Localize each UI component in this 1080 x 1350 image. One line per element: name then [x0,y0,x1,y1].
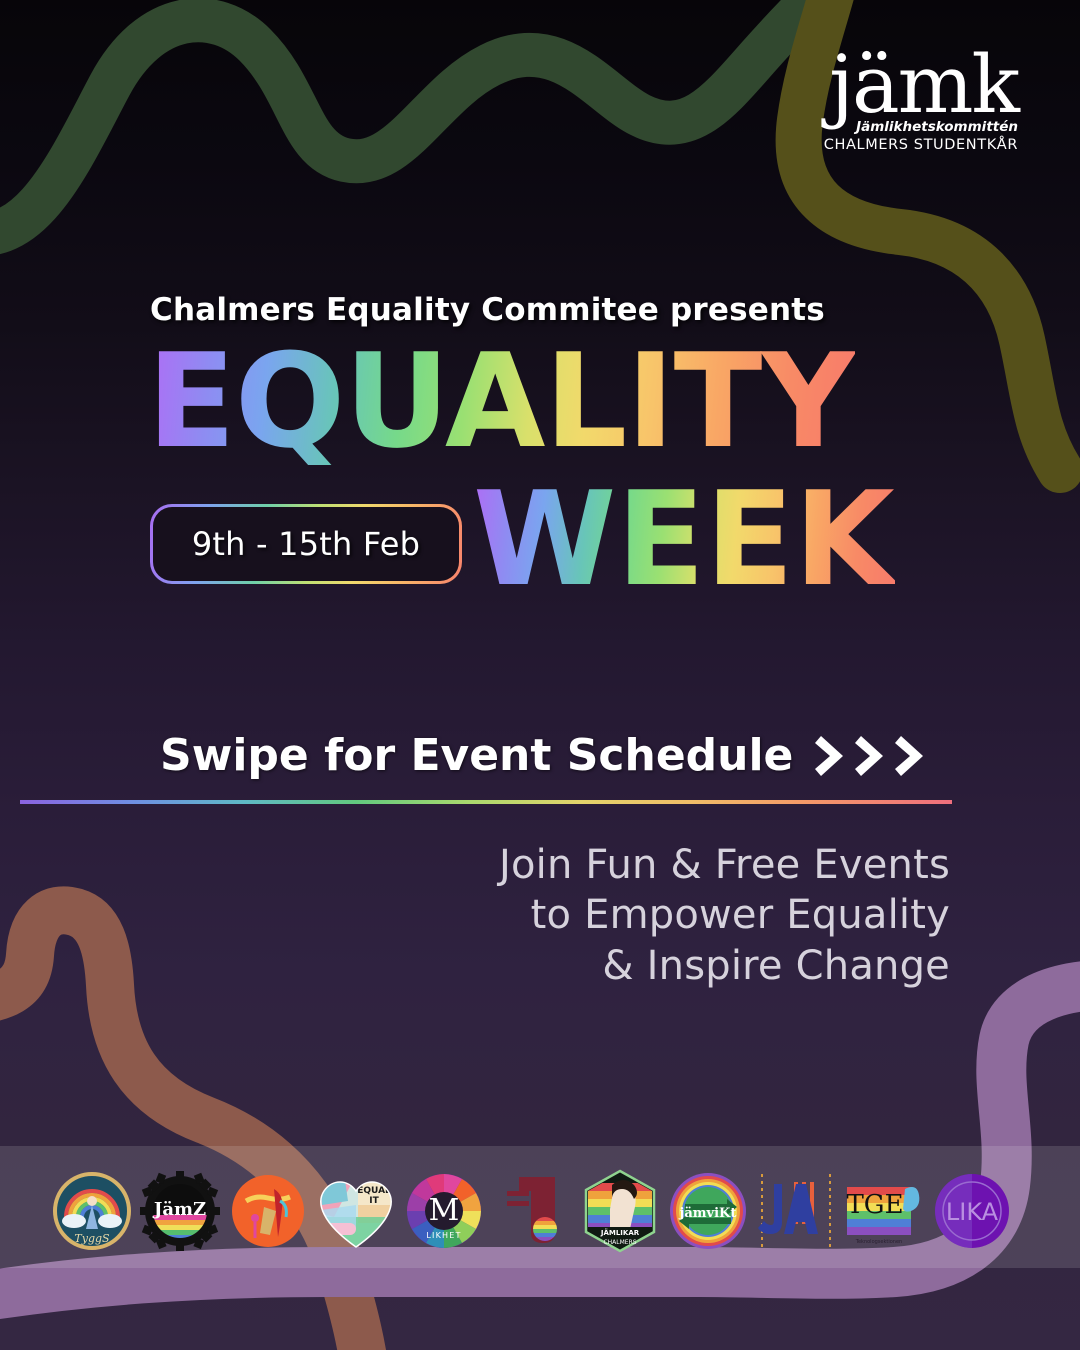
jamk-subtitle-union: CHALMERS STUDENTKÅR [788,137,1018,153]
poster-canvas: jämk Jämlikhetskommittén CHALMERS STUDEN… [0,0,1080,1350]
svg-text:LIKHET: LIKHET [426,1231,461,1240]
swipe-cta[interactable]: Swipe for Event Schedule [160,730,929,781]
headline-week: WEEK [473,474,895,604]
svg-text:M: M [429,1193,460,1228]
tagline-line-3: & Inspire Change [430,941,950,991]
svg-text:JÄMLIKAR: JÄMLIKAR [600,1228,640,1237]
partner-logo-orange-badge [224,1165,312,1257]
date-badge-inner: 9th - 15th Feb [153,507,459,581]
tagline-line-1: Join Fun & Free Events [430,840,950,890]
date-badge: 9th - 15th Feb [150,504,462,584]
partner-logo-maroon-mark [488,1165,576,1257]
chevron-right-icon [895,732,929,780]
svg-text:CHALMERS: CHALMERS [603,1239,636,1246]
partner-logo-mlikhet: M LIKHET [400,1165,488,1257]
partner-logo-ja [752,1165,840,1257]
green-wave-ribbon [0,0,880,234]
partner-logo-jamvikt: jämviKt [664,1165,752,1257]
swipe-cta-label: Swipe for Event Schedule [160,730,793,781]
partner-logo-jamlikar-chalmers: JÄMLIKAR CHALMERS [576,1165,664,1257]
svg-text:jämviKt: jämviKt [679,1206,737,1221]
partner-logo-lika: LIKA [928,1165,1016,1257]
presents-kicker: Chalmers Equality Commitee presents [150,292,825,328]
svg-text:LIKA: LIKA [946,1198,999,1226]
date-badge-label: 9th - 15th Feb [192,525,420,563]
partner-logo-jamz: JämZ [136,1165,224,1257]
rainbow-divider [20,800,952,804]
swipe-chevron-group [815,732,929,780]
headline-equality: EQUALITY [147,336,855,466]
svg-text:JämZ: JämZ [152,1199,206,1220]
tagline: Join Fun & Free Events to Empower Equali… [430,840,950,991]
svg-text:Teknologsektionen: Teknologsektionen [855,1239,902,1245]
chevron-right-icon [815,732,849,780]
tagline-line-2: to Empower Equality [430,890,950,940]
jamk-logo: jämk Jämlikhetskommittén CHALMERS STUDEN… [788,52,1018,153]
partner-logo-strip: TyggS [0,1165,1080,1257]
svg-text:TGE: TGE [846,1190,903,1220]
partner-logo-tge: TGE Teknologsektionen [840,1165,928,1257]
chevron-right-icon [855,732,889,780]
svg-text:IT: IT [369,1196,379,1206]
partner-logo-tyggs: TyggS [48,1165,136,1257]
partner-logo-equal-it: EQUAL IT [312,1165,400,1257]
jamk-subtitle-swedish: Jämlikhetskommittén [788,119,1018,135]
jamk-wordmark: jämk [788,52,1018,118]
svg-text:TyggS: TyggS [74,1232,110,1245]
